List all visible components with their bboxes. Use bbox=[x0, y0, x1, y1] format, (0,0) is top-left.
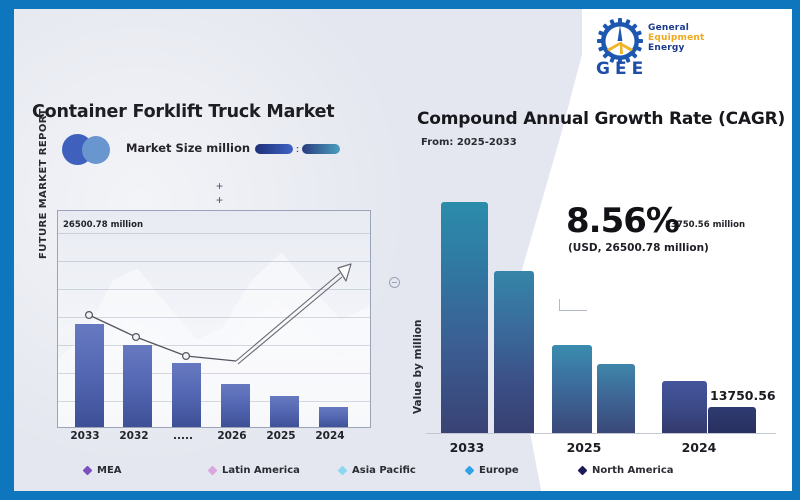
logo-line-1: General bbox=[648, 23, 705, 33]
bar-2025 bbox=[270, 396, 299, 428]
logo-wordmark: General Equipment Energy bbox=[648, 23, 705, 53]
pill-a bbox=[255, 144, 293, 154]
bar-2033 bbox=[75, 324, 104, 428]
legend-diamond-icon bbox=[338, 466, 348, 476]
right-chart-axis bbox=[426, 433, 776, 434]
circle-light bbox=[82, 136, 110, 164]
cagr-x-label-2033: 2033 bbox=[427, 440, 507, 455]
cagr-x-label-2025: 2025 bbox=[544, 440, 624, 455]
legend-label: Europe bbox=[479, 465, 519, 476]
legend-label: MEA bbox=[97, 465, 122, 476]
y-axis-right-label: Value by million bbox=[412, 319, 424, 414]
bar-2032 bbox=[123, 345, 152, 428]
page-title: Container Forklift Truck Market bbox=[32, 102, 334, 122]
cagr-bar-2033-upper bbox=[441, 202, 488, 433]
bar-2026 bbox=[221, 384, 250, 428]
legend-item-mea[interactable]: MEA bbox=[84, 465, 122, 476]
cagr-title: Compound Annual Growth Rate (CAGR) bbox=[417, 109, 785, 129]
gradient-pill-group: : bbox=[255, 144, 340, 154]
infographic-canvas: General Equipment Energy GEE Container F… bbox=[14, 9, 792, 491]
legend-label: North America bbox=[592, 465, 674, 476]
pill-separator: : bbox=[296, 144, 299, 154]
cagr-bar-2025-upper bbox=[552, 345, 592, 433]
logo-line-2: Equipment bbox=[648, 33, 705, 43]
x-label-2024: 2024 bbox=[300, 430, 360, 442]
legend-item-latin-america[interactable]: Latin America bbox=[209, 465, 300, 476]
cagr-x-label-2024: 2024 bbox=[659, 440, 739, 455]
cagr-end-value: 13750.56 bbox=[710, 388, 776, 403]
decor-bracket bbox=[559, 299, 587, 311]
bar-2024 bbox=[319, 407, 348, 428]
cagr-bar-2033-lower bbox=[494, 271, 534, 433]
brand-logo[interactable]: General Equipment Energy GEE bbox=[588, 15, 784, 77]
gear-windmill-icon bbox=[596, 17, 644, 65]
left-market-size-chart bbox=[57, 210, 371, 428]
caption-left: 26500.78 million bbox=[63, 220, 143, 230]
cagr-bar-2025-lower bbox=[597, 364, 635, 433]
chart-legend: MEA Latin America Asia Pacific Europe No… bbox=[84, 465, 734, 485]
market-size-circles-icon bbox=[62, 133, 122, 165]
outer-blue-frame: General Equipment Energy GEE Container F… bbox=[0, 0, 800, 500]
legend-diamond-icon bbox=[578, 466, 588, 476]
logo-acronym: GEE bbox=[596, 59, 648, 79]
pill-b bbox=[302, 144, 340, 154]
market-size-label: Market Size million bbox=[126, 141, 250, 155]
cagr-bar-2024-upper bbox=[662, 381, 707, 433]
plus-symbol-1: + bbox=[216, 179, 223, 193]
cagr-value: 8.56% bbox=[566, 201, 679, 241]
legend-item-north-america[interactable]: North America bbox=[579, 465, 674, 476]
legend-diamond-icon bbox=[83, 466, 93, 476]
logo-line-3: Energy bbox=[648, 43, 705, 53]
legend-diamond-icon bbox=[208, 466, 218, 476]
plus-symbol-2: + bbox=[216, 193, 223, 207]
circle-minus-icon[interactable] bbox=[389, 277, 400, 288]
legend-label: Asia Pacific bbox=[352, 465, 416, 476]
trend-line-overlay bbox=[58, 211, 371, 428]
legend-diamond-icon bbox=[465, 466, 475, 476]
legend-label: Latin America bbox=[222, 465, 300, 476]
market-size-badge: Market Size million : bbox=[62, 133, 392, 167]
cagr-usd-note: (USD, 26500.78 million) bbox=[568, 242, 709, 254]
legend-item-europe[interactable]: Europe bbox=[466, 465, 519, 476]
legend-item-asia-pacific[interactable]: Asia Pacific bbox=[339, 465, 416, 476]
bar-mid bbox=[172, 363, 201, 428]
cagr-bar-2024-lower bbox=[708, 407, 756, 433]
y-axis-left-label: FUTURE MARKET REPORT bbox=[38, 108, 49, 259]
cagr-subtitle: From: 2025-2033 bbox=[421, 137, 517, 148]
